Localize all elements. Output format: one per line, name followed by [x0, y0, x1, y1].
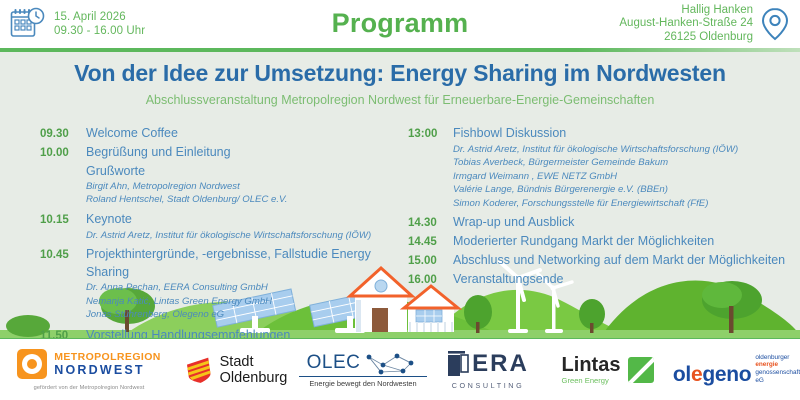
headline-band: Von der Idee zur Umsetzung: Energy Shari… — [0, 52, 800, 114]
speaker-list: Dr. Astrid Aretz, Institut für ökologisc… — [86, 229, 400, 242]
program-item: 14.30 Wrap-up und Ausblick — [408, 213, 800, 232]
venue-line-3: 26125 Oldenburg — [619, 31, 753, 45]
program-title: Fishbowl Diskussion — [453, 124, 566, 142]
program-time: 11.50 — [40, 327, 86, 338]
olec-mark-row: OLEC — [307, 351, 420, 375]
program-title: Vorstellung Handlungsempfehlungen — [86, 326, 290, 338]
event-program-poster: 15. April 2026 09.30 - 16.00 Uhr Program… — [0, 0, 800, 400]
lintas-lockup: Lintas Green Energy — [562, 355, 655, 385]
program-item: 09.30 Welcome Coffee — [40, 124, 400, 143]
program-time: 13:00 — [408, 125, 453, 143]
metropolregion-line-2: NORDWEST — [54, 363, 161, 377]
era-letters: ERA — [472, 350, 529, 378]
olegeno-sub-1: oldenburger — [755, 354, 800, 362]
program-item: 10.45 Projekthintergründe, -ergebnisse, … — [40, 245, 400, 281]
program-item: 11.50 Vorstellung Handlungsempfehlungen — [40, 326, 400, 338]
logo-olegeno: olegeno oldenburger energie genossenscha… — [673, 339, 800, 400]
date-line-1: 15. April 2026 — [54, 10, 145, 24]
olegeno-part-e: e — [691, 363, 702, 386]
program-body: 09.30 Welcome Coffee 10.00 Begrüßung und… — [0, 114, 800, 338]
stadt-wordmark: Stadt Oldenburg — [220, 354, 288, 386]
program-time: 10.45 — [40, 246, 86, 264]
olegeno-sub-2: energie — [755, 361, 800, 369]
speaker: Dr. Anna Pechan, EERA Consulting GmbH — [86, 281, 400, 294]
program-title: Wrap-up und Ausblick — [453, 213, 574, 231]
olegeno-lockup: olegeno oldenburger energie genossenscha… — [673, 354, 800, 385]
olegeno-wordmark: olegeno — [673, 364, 751, 385]
venue-line-2: August-Hanken-Straße 24 — [619, 17, 753, 31]
funding-note: gefördert von der Metropolregion Nordwes… — [34, 385, 145, 391]
speaker: Tobias Averbeck, Bürgermeister Gemeinde … — [453, 156, 800, 169]
program-time: 16.00 — [408, 271, 453, 289]
venue-line-1: Hallig Hanken — [619, 4, 753, 18]
stadt-line-1: Stadt — [220, 354, 288, 370]
program-item: 14.45 Moderierter Rundgang Markt der Mög… — [408, 232, 800, 251]
headline-sub: Abschlussveranstaltung Metropolregion No… — [146, 93, 655, 107]
speaker: Nemanja Katić, Lintas Green Energy GmbH — [86, 295, 400, 308]
speaker: Irmgard Weimann , EWE NETZ GmbH — [453, 170, 800, 183]
metropolregion-line-1: METROPOLREGION — [54, 351, 161, 363]
program-title: Keynote — [86, 210, 132, 228]
headline-main: Von der Idee zur Umsetzung: Energy Shari… — [74, 60, 726, 87]
olec-wordmark: OLEC — [307, 352, 361, 373]
olegeno-sub-3: genossenschaft eG — [755, 369, 800, 384]
program-item: 16.00 Veranstaltungsende — [408, 270, 800, 289]
speaker: Simon Koderer, Forschungsstelle für Ener… — [453, 197, 800, 210]
program-title: Projekthintergründe, -ergebnisse, Fallst… — [86, 245, 400, 281]
program-time: 14.45 — [408, 233, 453, 251]
speaker: Dr. Astrid Aretz, Institut für ökologisc… — [453, 143, 800, 156]
program-column-left: 09.30 Welcome Coffee 10.00 Begrüßung und… — [0, 124, 400, 338]
speaker-list: Dr. Anna Pechan, EERA Consulting GmbH Ne… — [86, 281, 400, 321]
logo-metropolregion-nordwest: METROPOLREGION NORDWEST gefördert von de… — [0, 339, 178, 400]
calendar-clock-icon — [10, 7, 46, 41]
stadt-lockup: Stadt Oldenburg — [184, 354, 288, 386]
speaker: Roland Hentschel, Stadt Oldenburg/ OLEC … — [86, 193, 400, 206]
program-item: 10.15 Keynote — [40, 210, 400, 229]
map-pin-icon — [760, 7, 790, 41]
era-wordmark: ERA — [447, 350, 529, 378]
speaker: Birgit Ahn, Metropolregion Nordwest — [86, 180, 400, 193]
lintas-wordmark: Lintas Green Energy — [562, 355, 621, 385]
oldenburg-crest-icon — [184, 355, 214, 385]
speaker: Valérie Lange, Bündnis Bürgerenergie e.V… — [453, 183, 800, 196]
speaker: Dr. Astrid Aretz, Institut für ökologisc… — [86, 229, 400, 242]
era-subtitle: CONSULTING — [452, 381, 525, 390]
date-line-2: 09.30 - 16.00 Uhr — [54, 24, 145, 38]
olegeno-part-ol: ol — [673, 363, 691, 386]
logo-era-consulting: ERA CONSULTING — [433, 339, 543, 400]
logo-olec: OLEC Energie bewegt den N — [293, 339, 433, 400]
lintas-leaf-icon — [628, 357, 654, 383]
program-item: 10.00 Begrüßung und Einleitung — [40, 143, 400, 162]
era-lockup: ERA CONSULTING — [447, 350, 529, 390]
olec-lockup: OLEC Energie bewegt den N — [299, 351, 427, 389]
olec-underline — [299, 376, 427, 378]
olegeno-part-geno: geno — [702, 363, 751, 386]
date-block: 15. April 2026 09.30 - 16.00 Uhr — [0, 7, 280, 41]
program-title: Welcome Coffee — [86, 124, 178, 142]
program-time: 10.00 — [40, 144, 86, 162]
speaker-list: Dr. Astrid Aretz, Institut für ökologisc… — [453, 143, 800, 210]
program-time: 14.30 — [408, 214, 453, 232]
speaker: Jonas Stührenberg, Olegeno eG — [86, 308, 400, 321]
program-columns: 09.30 Welcome Coffee 10.00 Begrüßung und… — [0, 114, 800, 338]
metropolregion-lockup: METROPOLREGION NORDWEST — [17, 349, 161, 379]
program-item: 13:00 Fishbowl Diskussion — [408, 124, 800, 143]
program-title: Begrüßung und Einleitung — [86, 143, 231, 161]
metropolregion-eye-icon — [17, 349, 47, 379]
page-title: Programm — [280, 8, 520, 39]
logo-lintas-green-energy: Lintas Green Energy — [543, 339, 673, 400]
stadt-line-2: Oldenburg — [220, 370, 288, 386]
olec-tagline: Energie bewegt den Nordwesten — [309, 379, 416, 388]
program-item: 15.00 Abschluss und Networking auf dem M… — [408, 251, 800, 270]
program-title: Veranstaltungsende — [453, 270, 564, 288]
program-title: Abschluss und Networking auf dem Markt d… — [453, 251, 785, 269]
venue-text: Hallig Hanken August-Hanken-Straße 24 26… — [619, 4, 753, 45]
program-time: 09.30 — [40, 125, 86, 143]
lintas-name: Lintas — [562, 355, 621, 375]
era-e-icon — [447, 351, 469, 376]
speaker-list: Birgit Ahn, Metropolregion Nordwest Rola… — [86, 180, 400, 207]
lintas-subtitle: Green Energy — [562, 376, 621, 385]
program-column-right: 13:00 Fishbowl Diskussion Dr. Astrid Are… — [400, 124, 800, 338]
olec-network-icon — [363, 351, 419, 375]
poster-header: 15. April 2026 09.30 - 16.00 Uhr Program… — [0, 0, 800, 48]
sponsor-logo-bar: METROPOLREGION NORDWEST gefördert von de… — [0, 339, 800, 400]
program-time: 15.00 — [408, 252, 453, 270]
date-text: 15. April 2026 09.30 - 16.00 Uhr — [54, 10, 145, 38]
olegeno-subtitle: oldenburger energie genossenschaft eG — [755, 354, 800, 385]
program-note: Grußworte — [86, 162, 400, 180]
program-title: Moderierter Rundgang Markt der Möglichke… — [453, 232, 714, 250]
program-time: 10.15 — [40, 211, 86, 229]
venue-block: Hallig Hanken August-Hanken-Straße 24 26… — [520, 4, 800, 45]
logo-stadt-oldenburg: Stadt Oldenburg — [178, 339, 293, 400]
metropolregion-wordmark: METROPOLREGION NORDWEST — [54, 351, 161, 377]
